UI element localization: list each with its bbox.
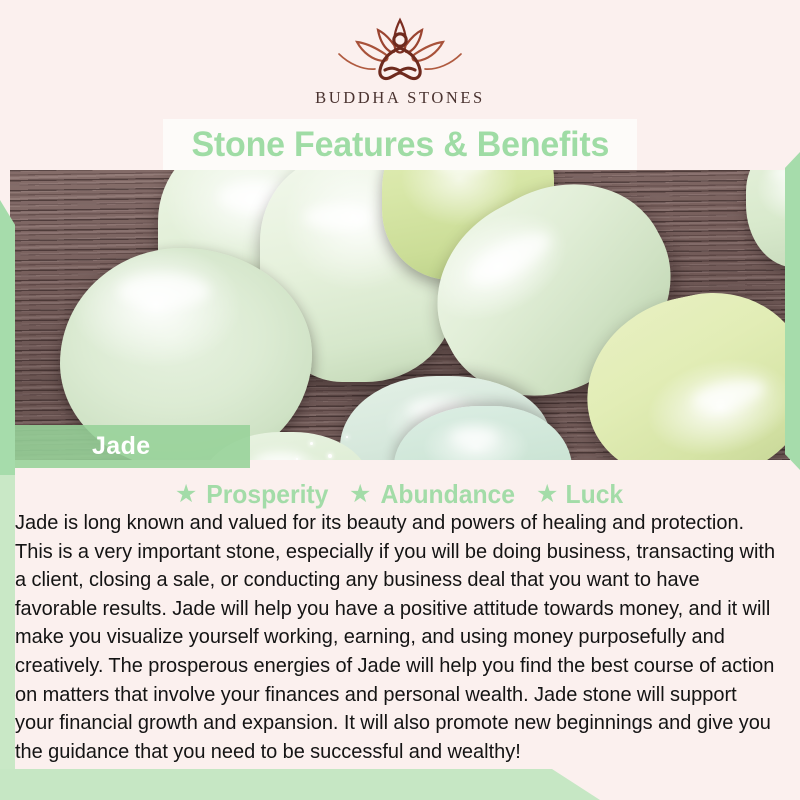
stone-photo <box>10 170 790 460</box>
sparkle-icon <box>328 454 332 458</box>
lotus-meditation-icon <box>325 14 475 86</box>
stone-name-label: Jade <box>92 432 151 461</box>
decor-bar-left <box>0 200 15 475</box>
description-block: Jade is long known and valued for its be… <box>15 509 787 766</box>
benefit-label: Luck <box>566 479 624 510</box>
brand-wordmark: BUDDHA STONES <box>315 88 485 108</box>
stone-name-badge: Jade <box>15 425 250 468</box>
benefits-row: ★ Prosperity ★ Abundance ★ Luck <box>0 478 800 510</box>
benefit-label: Prosperity <box>207 479 329 510</box>
infographic-page: BUDDHA STONES Stone Features & Benefits … <box>0 0 800 800</box>
brand-logo-block: BUDDHA STONES <box>0 14 800 119</box>
benefit-item-prosperity: ★ Prosperity <box>175 479 332 510</box>
decor-bar-right <box>785 152 800 470</box>
page-title: Stone Features & Benefits <box>191 125 609 165</box>
star-icon: ★ <box>536 482 558 507</box>
benefit-item-luck: ★ Luck <box>536 479 625 510</box>
decor-bar-bottom <box>0 769 600 800</box>
sparkle-icon <box>296 458 298 460</box>
sparkle-icon <box>346 436 348 438</box>
benefit-label: Abundance <box>381 479 515 510</box>
star-icon: ★ <box>349 482 371 507</box>
title-banner: Stone Features & Benefits <box>163 119 637 170</box>
star-icon: ★ <box>175 482 197 507</box>
benefit-item-abundance: ★ Abundance <box>349 479 519 510</box>
description-text: Jade is long known and valued for its be… <box>15 509 775 766</box>
sparkle-icon <box>310 442 313 445</box>
